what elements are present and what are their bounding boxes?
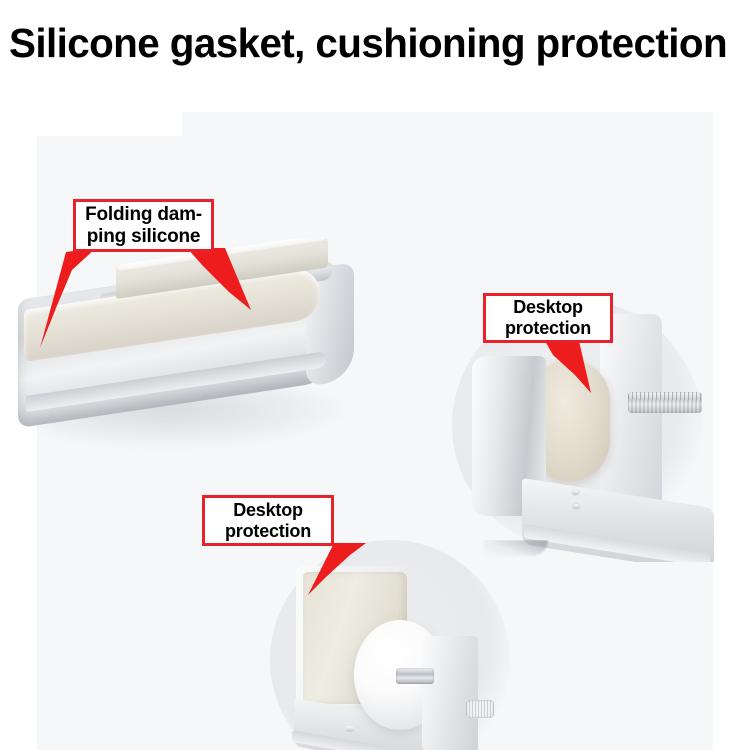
knob-screw-head	[466, 700, 494, 718]
knob-screw	[396, 668, 434, 684]
knob-background-sliver	[484, 540, 548, 556]
knob-metal-bracket	[422, 636, 478, 750]
callout-label: Desktop protection	[505, 297, 591, 338]
background-panel-right-edge	[713, 112, 750, 750]
clamp-rivet	[573, 504, 580, 509]
background-panel-notch	[37, 112, 182, 136]
callout-arrow-down-left-icon	[300, 543, 372, 609]
infographic-page: Silicone gasket, cushioning protection	[0, 0, 750, 750]
callout-arrow-left-down-icon	[36, 248, 106, 353]
callout-folding-damping-silicone: Folding dam- ping silicone	[73, 199, 214, 252]
clamp-rivet	[572, 490, 579, 495]
callout-desktop-protection-right: Desktop protection	[483, 293, 613, 343]
page-title: Silicone gasket, cushioning protection	[9, 21, 743, 66]
callout-arrow-down-right-icon	[545, 341, 615, 409]
callout-label: Desktop protection	[225, 500, 311, 541]
clamp-screw-threads	[628, 392, 702, 413]
knob-rivet	[346, 726, 354, 732]
callout-desktop-protection-bottom: Desktop protection	[202, 495, 334, 546]
callout-arrow-right-down-icon	[185, 248, 260, 323]
callout-label: Folding dam- ping silicone	[85, 204, 202, 247]
